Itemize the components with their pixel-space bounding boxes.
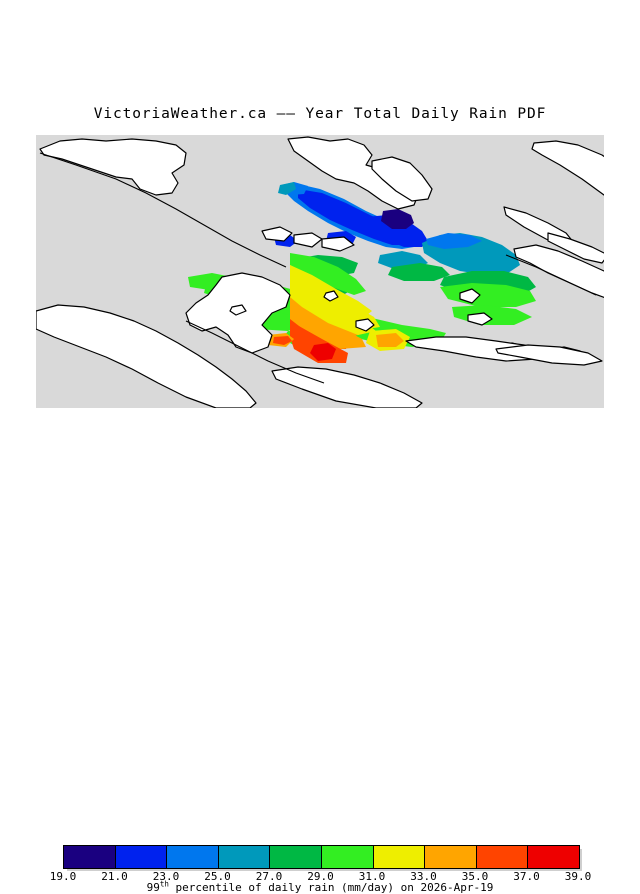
page-title: VictoriaWeather.ca —— Year Total Daily R… — [0, 106, 640, 122]
colorbar-segment-9 — [528, 846, 579, 868]
colorbar-block: 19.021.023.025.027.029.031.033.035.037.0… — [0, 420, 640, 480]
colorbar-segment-4 — [270, 846, 322, 868]
colorbar-segment-5 — [322, 846, 374, 868]
caption-prefix: 99 — [147, 881, 160, 894]
colorbar-segment-1 — [116, 846, 168, 868]
colorbar-segment-6 — [374, 846, 426, 868]
rainfall-contour-map — [36, 135, 604, 408]
colorbar-segment-7 — [425, 846, 477, 868]
map-panel — [36, 135, 604, 408]
colorbar-caption: 99th percentile of daily rain (mm/day) o… — [0, 881, 640, 894]
caption-rest: percentile of daily rain (mm/day) on 202… — [169, 881, 494, 894]
colorbar-segment-3 — [219, 846, 271, 868]
colorbar-segment-0 — [64, 846, 116, 868]
colorbar-segment-2 — [167, 846, 219, 868]
colorbar — [63, 845, 580, 869]
caption-superscript: th — [160, 879, 169, 888]
colorbar-segment-8 — [477, 846, 529, 868]
